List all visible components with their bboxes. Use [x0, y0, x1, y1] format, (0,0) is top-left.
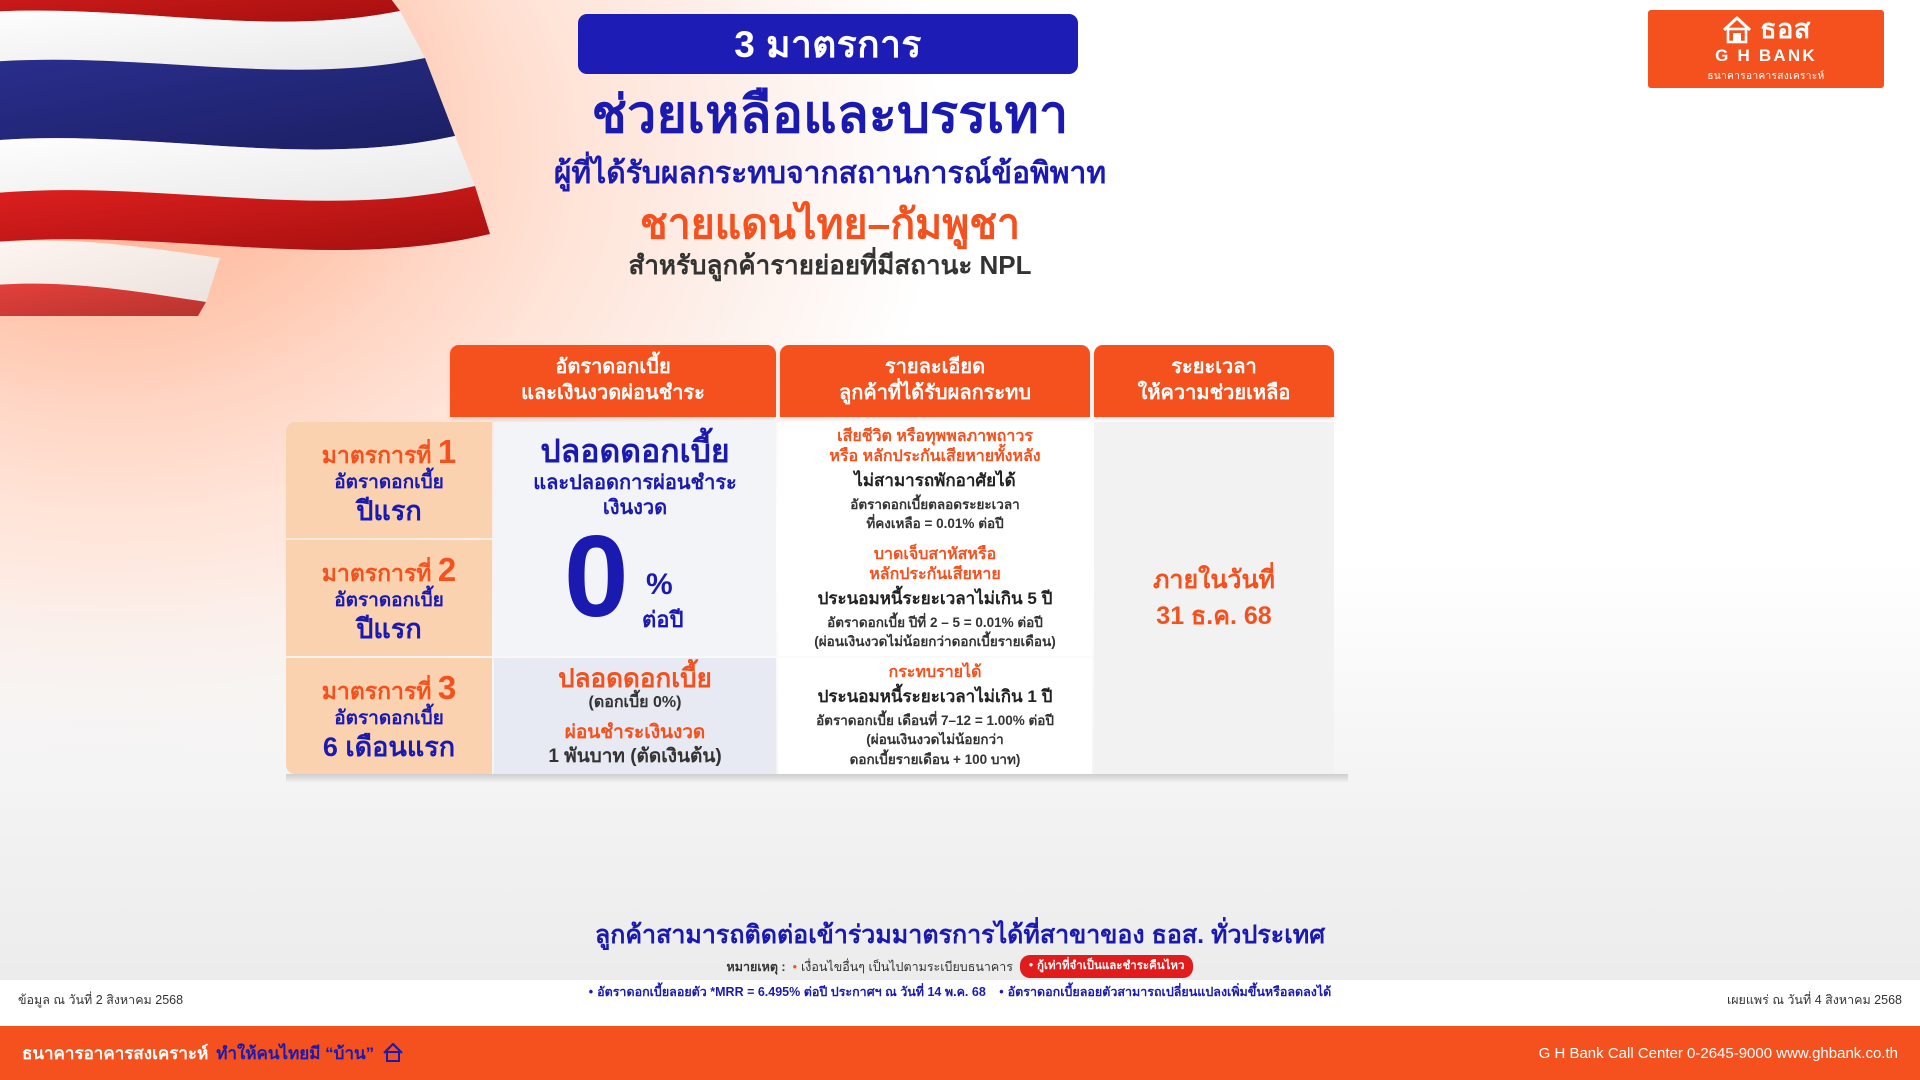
detail3-head1: กระทบรายได้ [889, 663, 982, 684]
detail1-body: ไม่สามารถพักอาศัยได้ [854, 470, 1015, 492]
rate-merged-line1: ปลอดดอกเบี้ย [540, 434, 729, 469]
rate3-amount: 1 พันบาท [548, 746, 625, 767]
house-icon [382, 1042, 404, 1064]
measure3-sub: อัตราดอกเบี้ย [334, 708, 444, 731]
measure2-number: 2 [438, 551, 456, 588]
bar-slogan-blue: ทำให้คนไทยมี “บ้าน” [216, 1040, 374, 1067]
responsible-lending-badge: กู้เท่าที่จำเป็นและชำระคืนไหว [1020, 955, 1193, 978]
rate3-line2: (ดอกเบี้ย 0%) [589, 693, 682, 714]
header1-line2: และเงินงวดผ่อนชำระ [521, 381, 705, 407]
data-as-of-date: ข้อมูล ณ วันที่ 2 สิงหาคม 2568 [18, 990, 183, 1010]
measure1-sub: อัตราดอกเบี้ย [334, 472, 444, 495]
detail1-head1: เสียชีวิต หรือทุพพลภาพถาวร [837, 427, 1033, 448]
detail1-small2: ที่คงเหลือ = 0.01% ต่อปี [866, 514, 1003, 533]
measure3-period: 6 เดือนแรก [323, 731, 455, 763]
note-label: หมายเหตุ : [727, 957, 786, 977]
detail2-small1: อัตราดอกเบี้ย ปีที่ 2 – 5 = 0.01% ต่อปี [827, 613, 1043, 632]
period-line1: ภายในวันที่ [1153, 562, 1275, 598]
measure1-period: ปีแรก [356, 495, 421, 527]
detail3-body: ประนอมหนี้ระยะเวลาไม่เกิน 1 ปี [818, 686, 1053, 708]
period-cell: ภายในวันที่ 31 ธ.ค. 68 [1094, 422, 1334, 774]
rate-merged-unit: % [646, 568, 673, 602]
table-header-period: ระยะเวลา ให้ความช่วยเหลือ [1094, 345, 1334, 417]
measure1-number: 1 [438, 433, 456, 470]
rate3-line1: ปลอดดอกเบี้ย [558, 664, 712, 693]
detail-cell-1: เสียชีวิต หรือทุพพลภาพถาวร หรือ หลักประก… [778, 422, 1092, 538]
note-line: หมายเหตุ : เงื่อนไขอื่นๆ เป็นไปตามระเบีย… [286, 955, 1634, 978]
measure2-period: ปีแรก [356, 613, 421, 645]
measure2-title: มาตรการที่ 2 [322, 551, 456, 589]
measure3-title: มาตรการที่ 3 [322, 669, 456, 707]
measure-cell-2: มาตรการที่ 2 อัตราดอกเบี้ย ปีแรก [286, 540, 492, 656]
table-header-interest-rate: อัตราดอกเบี้ย และเงินงวดผ่อนชำระ [450, 345, 776, 417]
detail3-small2: (ผ่อนเงินงวดไม่น้อยกว่า [866, 730, 1003, 749]
published-date: เผยแพร่ ณ วันที่ 4 สิงหาคม 2568 [1727, 990, 1902, 1010]
detail-cell-3: กระทบรายได้ ประนอมหนี้ระยะเวลาไม่เกิน 1 … [778, 658, 1092, 774]
note-item: เงื่อนไขอื่นๆ เป็นไปตามระเบียบธนาคาร [793, 957, 1013, 977]
measure2-sub: อัตราดอกเบี้ย [334, 590, 444, 613]
headline-line4: สำหรับลูกค้ารายย่อยที่มีสถานะ NPL [390, 245, 1270, 286]
gh-bank-logo: ธอส G H BANK ธนาคารอาคารสงเคราะห์ [1648, 10, 1884, 88]
measure-cell-1: มาตรการที่ 1 อัตราดอกเบี้ย ปีแรก [286, 422, 492, 538]
bar-contact: G H Bank Call Center 0-2645-9000 www.ghb… [1539, 1045, 1898, 1062]
table-header-details: รายละเอียด ลูกค้าที่ได้รับผลกระทบ [780, 345, 1090, 417]
bottom-bar: ธนาคารอาคารสงเคราะห์ ทำให้คนไทยมี “บ้าน”… [0, 1026, 1920, 1080]
note2-a: อัตราดอกเบี้ยลอยตัว *MRR = 6.495% ต่อปี … [589, 985, 986, 999]
headline-badge: 3 มาตรการ [578, 14, 1078, 74]
rate-cell-merged-1-2: ปลอดดอกเบี้ย และปลอดการผ่อนชำระ เงินงวด … [494, 422, 776, 656]
rate3-line3: ผ่อนชำระเงินงวด [565, 721, 706, 745]
note2-b: อัตราดอกเบี้ยลอยตัวสามารถเปลี่ยนแปลงเพิ่… [999, 985, 1331, 999]
logo-thai-name: ธอส [1760, 16, 1811, 43]
detail1-small1: อัตราดอกเบี้ยตลอดระยะเวลา [850, 495, 1019, 514]
note-line-2: อัตราดอกเบี้ยลอยตัว *MRR = 6.495% ต่อปี … [286, 982, 1634, 1002]
detail3-small1: อัตราดอกเบี้ย เดือนที่ 7–12 = 1.00% ต่อป… [816, 711, 1054, 730]
header2-line1: รายละเอียด [885, 355, 985, 381]
rate-merged-per: ต่อปี [642, 602, 683, 637]
rate-merged-line2: และปลอดการผ่อนชำระ [533, 471, 737, 495]
detail3-small3: ดอกเบี้ยรายเดือน + 100 บาท) [850, 750, 1021, 769]
logo-subtitle: ธนาคารอาคารสงเคราะห์ [1707, 69, 1824, 84]
detail2-head1: บาดเจ็บสาหัสหรือ [874, 545, 996, 566]
rate3-note: (ตัดเงินต้น) [630, 746, 721, 767]
header1-line1: อัตราดอกเบี้ย [555, 355, 670, 381]
logo-english-name: G H BANK [1715, 47, 1817, 64]
detail2-body: ประนอมหนี้ระยะเวลาไม่เกิน 5 ปี [818, 588, 1053, 610]
headline-line2: ผู้ที่ได้รับผลกระทบจากสถานการณ์ข้อพิพาท [390, 150, 1270, 197]
rate-cell-3: ปลอดดอกเบี้ย (ดอกเบี้ย 0%) ผ่อนชำระเงินง… [494, 658, 776, 774]
cta-text: ลูกค้าสามารถติดต่อเข้าร่วมมาตรการได้ที่ส… [286, 915, 1634, 955]
detail2-small2: (ผ่อนเงินงวดไม่น้อยกว่าดอกเบี้ยรายเดือน) [814, 632, 1055, 651]
measures-table: อัตราดอกเบี้ย และเงินงวดผ่อนชำระ รายละเอ… [286, 345, 1634, 890]
header3-line2: ให้ความช่วยเหลือ [1138, 381, 1291, 407]
bar-slogan-white: ธนาคารอาคารสงเคราะห์ [22, 1040, 208, 1067]
headline-line1: ช่วยเหลือและบรรเทา [390, 88, 1270, 143]
measure-cell-3: มาตรการที่ 3 อัตราดอกเบี้ย 6 เดือนแรก [286, 658, 492, 774]
measure3-number: 3 [438, 669, 456, 706]
rate-merged-value: 0 [564, 518, 629, 634]
header2-line2: ลูกค้าที่ได้รับผลกระทบ [839, 381, 1031, 407]
detail-cell-2: บาดเจ็บสาหัสหรือ หลักประกันเสียหาย ประนอ… [778, 540, 1092, 656]
detail2-head2: หลักประกันเสียหาย [869, 565, 1001, 586]
header3-line1: ระยะเวลา [1171, 355, 1257, 381]
period-line2: 31 ธ.ค. 68 [1156, 598, 1271, 634]
house-logo-icon [1721, 15, 1753, 45]
detail1-head2: หรือ หลักประกันเสียหายทั้งหลัง [829, 447, 1040, 468]
table-shadow [286, 774, 1348, 783]
measure1-title: มาตรการที่ 1 [322, 433, 456, 471]
